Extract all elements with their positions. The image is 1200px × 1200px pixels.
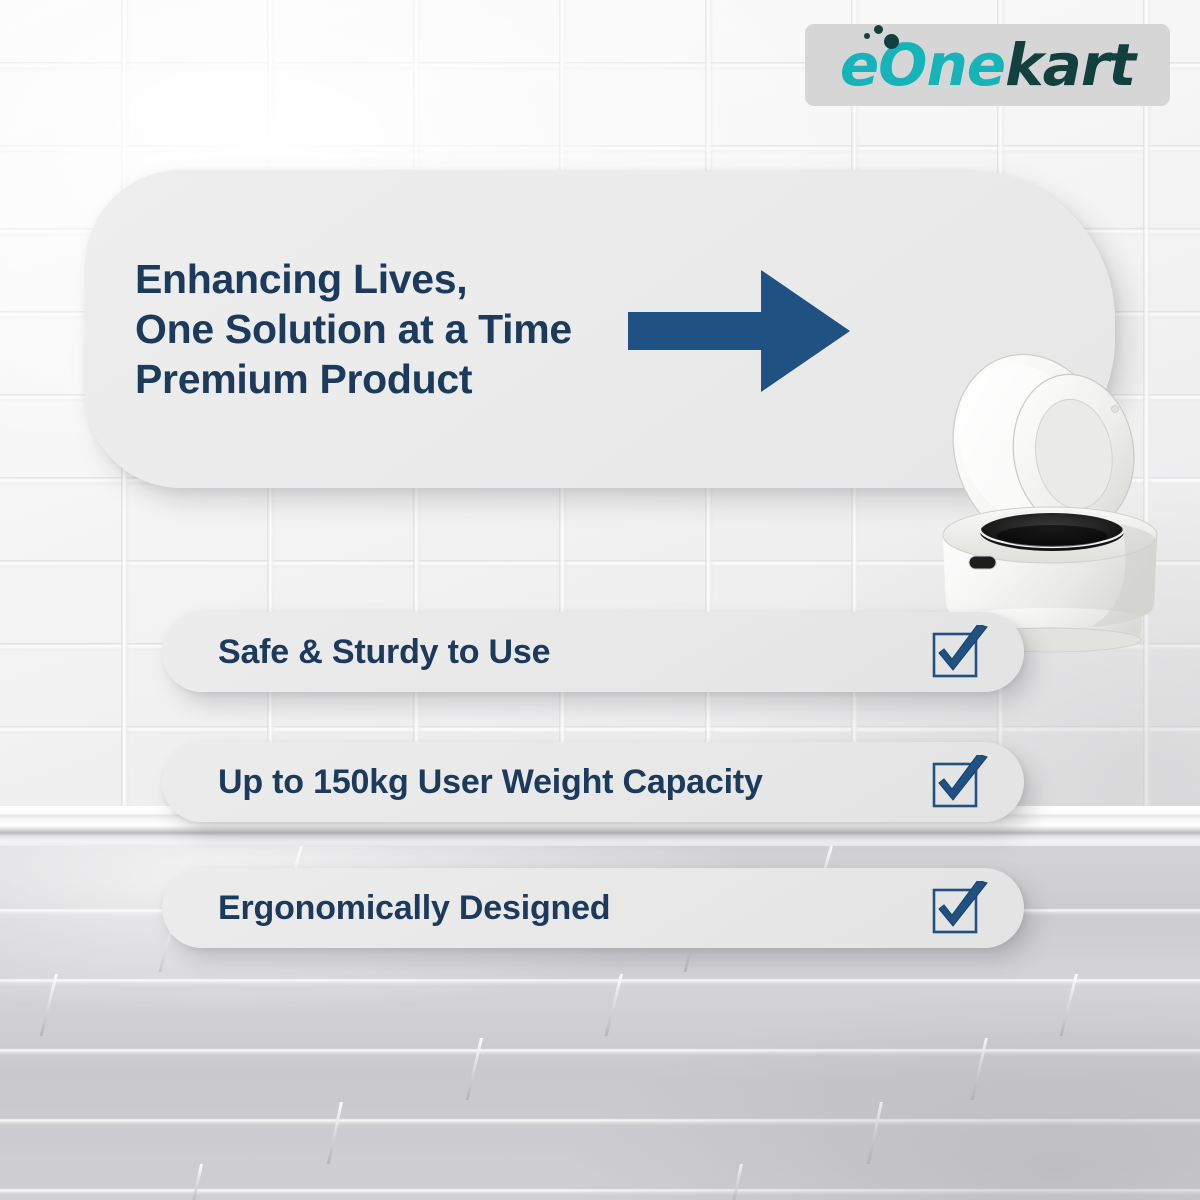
brand-logo-teal-part: eOne: [840, 31, 1005, 99]
feature-pill[interactable]: Safe & Sturdy to Use: [162, 612, 1024, 692]
portable-toilet-product-image: [925, 352, 1175, 654]
checkbox-checked-icon[interactable]: [930, 755, 990, 811]
logo-bubble-small-icon: [864, 33, 870, 39]
checkbox-checked-icon[interactable]: [930, 881, 990, 937]
promo-banner: eOnekart Enhancing Lives, One Solution a…: [0, 0, 1200, 1200]
feature-pill[interactable]: Up to 150kg User Weight Capacity: [162, 742, 1024, 822]
feature-label: Safe & Sturdy to Use: [218, 633, 550, 672]
brand-logo-wordmark: eOnekart: [840, 36, 1135, 94]
feature-label: Up to 150kg User Weight Capacity: [218, 763, 763, 802]
checkbox-checked-icon[interactable]: [930, 625, 990, 681]
hero-card: Enhancing Lives, One Solution at a Time …: [85, 170, 1115, 488]
brand-logo-dark-part: kart: [1005, 31, 1135, 99]
feature-label: Ergonomically Designed: [218, 889, 610, 928]
arrow-right-icon: [628, 266, 853, 396]
logo-bubble-medium-icon: [874, 25, 883, 34]
feature-pill[interactable]: Ergonomically Designed: [162, 868, 1024, 948]
brand-logo[interactable]: eOnekart: [805, 24, 1170, 106]
hero-headline: Enhancing Lives, One Solution at a Time …: [135, 254, 572, 404]
logo-bubble-large-icon: [884, 34, 899, 49]
